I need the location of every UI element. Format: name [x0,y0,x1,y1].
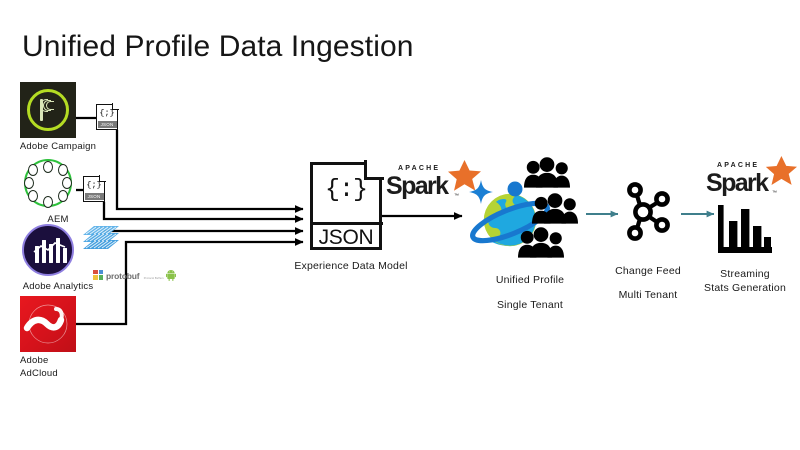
json-badge-tag: JSON [85,193,104,200]
protobuf-squares-icon [93,270,104,281]
json-badge-brace: {;} [96,108,118,118]
wire-campaign-to-xdm [117,130,303,209]
xdm-doc-brace: {:} [310,176,382,204]
wire-aem-to-xdm [104,202,303,219]
spark-wordmark: Spark [706,169,767,198]
sparkle-icon [469,180,493,204]
kafka-node-graph-icon [622,182,674,240]
unified-profile-graphic [462,158,574,276]
json-badge-tag: JSON [98,121,117,128]
xdm-doc-json-band: JSON [310,222,383,249]
page-title: Unified Profile Data Ingestion [22,30,414,64]
spark-apache-text: APACHE [717,162,759,169]
analytics-trendline [33,241,67,255]
campaign-p-mark [38,98,58,122]
aem-ring [24,159,72,207]
profile-node-dot [508,182,523,197]
json-badge-brace: {;} [83,180,105,190]
parquet-icon [82,225,120,255]
people-group-middle [532,193,578,223]
spark-apache-text: APACHE [398,165,440,172]
android-droid-icon [166,270,176,281]
protobuf-label: protobuf [106,271,139,281]
apache-spark-logo-stats: APACHE Spark ™ [706,160,800,206]
stage-label-single-tenant: Single Tenant [462,299,598,312]
spark-wordmark: Spark [386,172,447,201]
spark-tm-mark: ™ [454,193,459,199]
adobe-analytics-icon [20,222,76,278]
people-group-bottom [518,227,564,257]
adcloud-swoosh [20,296,76,352]
source-label-adobe-campaign: Adobe Campaign [6,140,110,153]
adobe-adcloud-icon [20,296,76,352]
people-group-top [524,157,570,187]
stage-label-stats-generation: Stats Generation [688,282,800,295]
slide-canvas: Unified Profile Data Ingestion [0,0,800,450]
stage-label-unified-profile: Unified Profile [462,274,598,287]
xdm-json-document-icon: {:} JSON [310,162,382,250]
stage-label-streaming: Streaming [688,268,800,281]
analytics-disc [22,224,74,276]
protobuf-text-block: protobuf Protocol Buffers [106,266,164,284]
json-format-badge-campaign: {;} JSON [96,104,118,130]
protobuf-sublabel: Protocol Buffers [144,277,164,280]
protobuf-format-badge: protobuf Protocol Buffers [93,266,176,284]
connector-wires [0,0,800,450]
spark-tm-mark: ™ [772,190,777,196]
adobe-campaign-icon [20,82,76,138]
campaign-ring [27,89,69,131]
bar-chart-icon [718,203,772,253]
stage-label-experience-data-model: Experience Data Model [276,260,426,273]
source-label-adobe-adcloud: Adobe AdCloud [20,354,130,380]
change-feed-graphic [622,182,674,240]
aem-icon [20,155,76,211]
json-format-badge-aem: {;} JSON [83,176,105,202]
